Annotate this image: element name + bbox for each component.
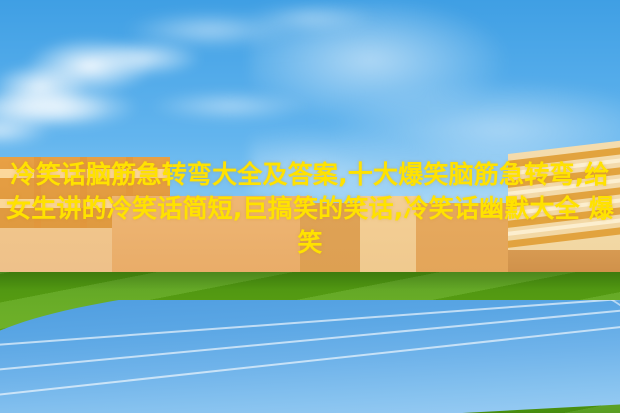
thumbnail-banner: 冷笑话脑筋急转弯大全及答案,十大爆笑脑筋急转弯,给女生讲的冷笑话简短,巨搞笑的笑…	[0, 0, 620, 413]
track-curve-line	[330, 300, 620, 364]
running-track	[0, 300, 620, 413]
field-horizon-shadow	[0, 272, 620, 290]
caption-overlay-text: 冷笑话脑筋急转弯大全及答案,十大爆笑脑筋急转弯,给女生讲的冷笑话简短,巨搞笑的笑…	[0, 158, 620, 260]
